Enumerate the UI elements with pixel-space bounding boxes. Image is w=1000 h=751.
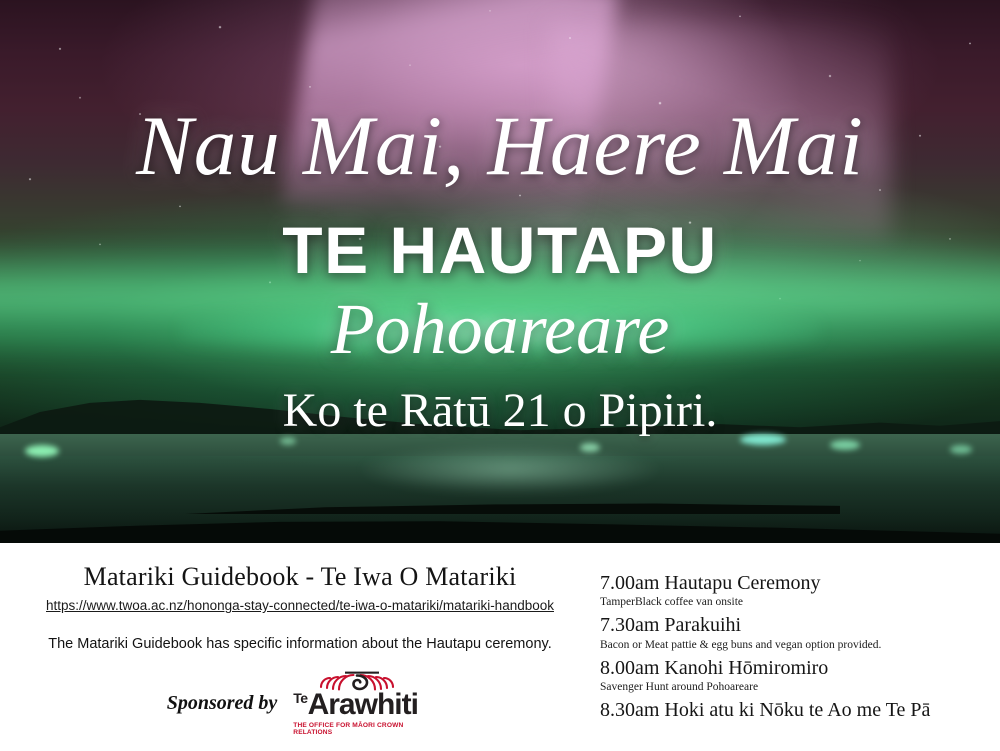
hero-banner: Nau Mai, Haere Mai TE HAUTAPU Pohoareare…	[0, 0, 1000, 543]
guidebook-note: The Matariki Guidebook has specific info…	[0, 636, 600, 652]
guidebook-url-link[interactable]: https://www.twoa.ac.nz/hononga-stay-conn…	[0, 598, 600, 613]
schedule-item-title: 8.00am Kanohi Hōmiromiro	[600, 656, 1000, 680]
schedule-section: 7.00am Hautapu Ceremony TamperBlack coff…	[600, 543, 1000, 751]
event-date-heading: Ko te Rātū 21 o Pipiri.	[283, 387, 718, 435]
schedule-item-title: 7.00am Hautapu Ceremony	[600, 571, 1000, 595]
schedule-item: 8.30am Hoki atu ki Nōku te Ao me Te Pā	[600, 698, 1000, 722]
schedule-item: 7.30am Parakuihi Bacon or Meat pattie & …	[600, 613, 1000, 652]
sponsored-by-label: Sponsored by	[167, 692, 278, 715]
hero-text-block: Nau Mai, Haere Mai TE HAUTAPU Pohoareare…	[0, 0, 1000, 543]
matariki-event-poster: Nau Mai, Haere Mai TE HAUTAPU Pohoareare…	[0, 0, 1000, 751]
guidebook-section: Matariki Guidebook - Te Iwa O Matariki h…	[0, 543, 600, 751]
sponsor-row: Sponsored by	[0, 671, 600, 736]
footer-info-bar: Matariki Guidebook - Te Iwa O Matariki h…	[0, 543, 1000, 751]
schedule-item-detail: TamperBlack coffee van onsite	[600, 595, 1000, 610]
welcome-heading: Nau Mai, Haere Mai	[136, 104, 864, 189]
te-arawhiti-tagline: THE OFFICE FOR MĀORI CROWN RELATIONS	[293, 722, 433, 736]
event-title-heading: TE HAUTAPU	[282, 217, 717, 283]
schedule-item: 7.00am Hautapu Ceremony TamperBlack coff…	[600, 571, 1000, 610]
koru-spiral-icon	[315, 671, 399, 693]
te-arawhiti-wordmark: TeArawhiti	[293, 691, 433, 719]
schedule-item-detail: Bacon or Meat pattie & egg buns and vega…	[600, 638, 1000, 653]
event-place-heading: Pohoareare	[331, 293, 670, 365]
schedule-item-title: 8.30am Hoki atu ki Nōku te Ao me Te Pā	[600, 698, 1000, 722]
schedule-item-detail: Savenger Hunt around Pohoareare	[600, 680, 1000, 695]
logo-te-prefix: Te	[293, 690, 307, 706]
schedule-item-title: 7.30am Parakuihi	[600, 613, 1000, 637]
guidebook-title: Matariki Guidebook - Te Iwa O Matariki	[0, 562, 600, 592]
te-arawhiti-logo: TeArawhiti THE OFFICE FOR MĀORI CROWN RE…	[293, 671, 433, 736]
schedule-item: 8.00am Kanohi Hōmiromiro Savenger Hunt a…	[600, 656, 1000, 695]
